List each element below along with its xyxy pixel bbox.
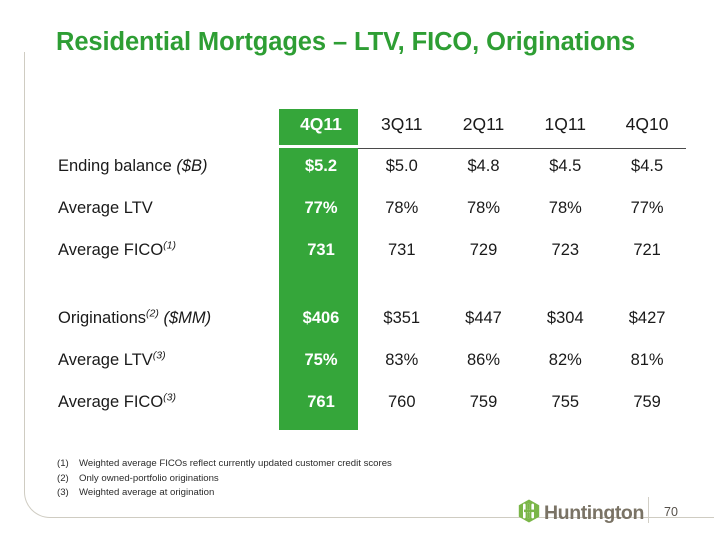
row-label-text: Average LTV: [58, 199, 153, 217]
cell-average-ltv-portfolio-1q11: 78%: [524, 187, 606, 229]
row-label-average-fico-portfolio: Average FICO(1): [56, 229, 281, 271]
cell-average-fico-originations-4q10: 759: [606, 381, 688, 423]
footnote-text: Only owned-portfolio originations: [79, 473, 219, 484]
cell-average-fico-portfolio-4q11: 731: [281, 229, 361, 271]
page-title: Residential Mortgages – LTV, FICO, Origi…: [56, 28, 635, 57]
cell-ending-balance-4q10: $4.5: [606, 145, 688, 187]
huntington-hexagon-icon: [518, 499, 540, 528]
column-header-2q11: 2Q11: [443, 104, 525, 145]
cell-average-ltv-originations-4q10: 81%: [606, 339, 688, 381]
cell-average-ltv-originations-1q11: 82%: [524, 339, 606, 381]
column-header-1q11: 1Q11: [524, 104, 606, 145]
cell-average-fico-portfolio-2q11: 729: [443, 229, 525, 271]
cell-average-fico-originations-4q11: 761: [281, 381, 361, 423]
row-label-average-fico-originations: Average FICO(3): [56, 381, 281, 423]
row-label-unit: ($B): [176, 157, 207, 175]
cell-average-fico-portfolio-4q10: 721: [606, 229, 688, 271]
footnote-marker: (2): [146, 307, 159, 319]
column-header-4q11: 4Q11: [281, 104, 361, 145]
table-row: Ending balance ($B) $5.2 $5.0 $4.8 $4.5 …: [56, 145, 688, 187]
column-header-blank: [56, 104, 281, 145]
cell-ending-balance-3q11: $5.0: [361, 145, 443, 187]
cell-average-fico-originations-2q11: 759: [443, 381, 525, 423]
footer-divider: [648, 497, 649, 523]
row-label-text: Average FICO: [58, 241, 163, 259]
cell-average-ltv-portfolio-4q11: 77%: [281, 187, 361, 229]
row-label-text: Ending balance: [58, 157, 172, 175]
cell-originations-4q10: $427: [606, 297, 688, 339]
row-label-average-ltv-portfolio: Average LTV: [56, 187, 281, 229]
footnote-marker: (3): [153, 349, 166, 361]
table-row: Average LTV(3) 75% 83% 86% 82% 81%: [56, 339, 688, 381]
table-row: Originations(2) ($MM) $406 $351 $447 $30…: [56, 297, 688, 339]
cell-average-ltv-originations-3q11: 83%: [361, 339, 443, 381]
cell-originations-4q11: $406: [281, 297, 361, 339]
row-label-text: Average LTV: [58, 351, 153, 369]
metrics-table: 4Q11 3Q11 2Q11 1Q11 4Q10 Ending balance …: [56, 104, 688, 423]
page-number: 70: [664, 505, 678, 519]
cell-originations-2q11: $447: [443, 297, 525, 339]
cell-average-fico-originations-1q11: 755: [524, 381, 606, 423]
cell-average-ltv-portfolio-3q11: 78%: [361, 187, 443, 229]
table-section-spacer: [56, 271, 688, 297]
row-label-originations: Originations(2) ($MM): [56, 297, 281, 339]
footnotes-list: (1)Weighted average FICOs reflect curren…: [57, 457, 392, 501]
row-label-ending-balance: Ending balance ($B): [56, 145, 281, 187]
footnote-number: (2): [57, 472, 79, 487]
cell-average-ltv-portfolio-2q11: 78%: [443, 187, 525, 229]
row-label-text: Originations: [58, 309, 146, 327]
cell-originations-3q11: $351: [361, 297, 443, 339]
cell-ending-balance-1q11: $4.5: [524, 145, 606, 187]
column-header-4q10: 4Q10: [606, 104, 688, 145]
footnote-text: Weighted average at origination: [79, 487, 214, 498]
footnote-item: (1)Weighted average FICOs reflect curren…: [57, 457, 392, 472]
cell-average-ltv-portfolio-4q10: 77%: [606, 187, 688, 229]
row-label-average-ltv-originations: Average LTV(3): [56, 339, 281, 381]
huntington-wordmark: Huntington: [544, 502, 644, 525]
data-table: 4Q11 3Q11 2Q11 1Q11 4Q10 Ending balance …: [56, 104, 688, 423]
column-header-3q11: 3Q11: [361, 104, 443, 145]
cell-ending-balance-4q11: $5.2: [281, 145, 361, 187]
footnote-item: (3)Weighted average at origination: [57, 486, 392, 501]
cell-average-ltv-originations-2q11: 86%: [443, 339, 525, 381]
footnote-number: (3): [57, 486, 79, 501]
row-label-text: Average FICO: [58, 393, 163, 411]
cell-average-fico-portfolio-1q11: 723: [524, 229, 606, 271]
footnote-number: (1): [57, 457, 79, 472]
cell-ending-balance-2q11: $4.8: [443, 145, 525, 187]
footnote-marker: (3): [163, 391, 176, 403]
cell-originations-1q11: $304: [524, 297, 606, 339]
table-row: Average FICO(3) 761 760 759 755 759: [56, 381, 688, 423]
row-label-unit: ($MM): [163, 309, 211, 327]
footnote-marker: (1): [163, 239, 176, 251]
footnote-item: (2)Only owned-portfolio originations: [57, 472, 392, 487]
cell-average-fico-portfolio-3q11: 731: [361, 229, 443, 271]
table-header-row: 4Q11 3Q11 2Q11 1Q11 4Q10: [56, 104, 688, 145]
footnote-text: Weighted average FICOs reflect currently…: [79, 458, 392, 469]
huntington-logo: Huntington: [518, 499, 644, 528]
cell-average-ltv-originations-4q11: 75%: [281, 339, 361, 381]
table-row: Average FICO(1) 731 731 729 723 721: [56, 229, 688, 271]
cell-average-fico-originations-3q11: 760: [361, 381, 443, 423]
table-row: Average LTV 77% 78% 78% 78% 77%: [56, 187, 688, 229]
